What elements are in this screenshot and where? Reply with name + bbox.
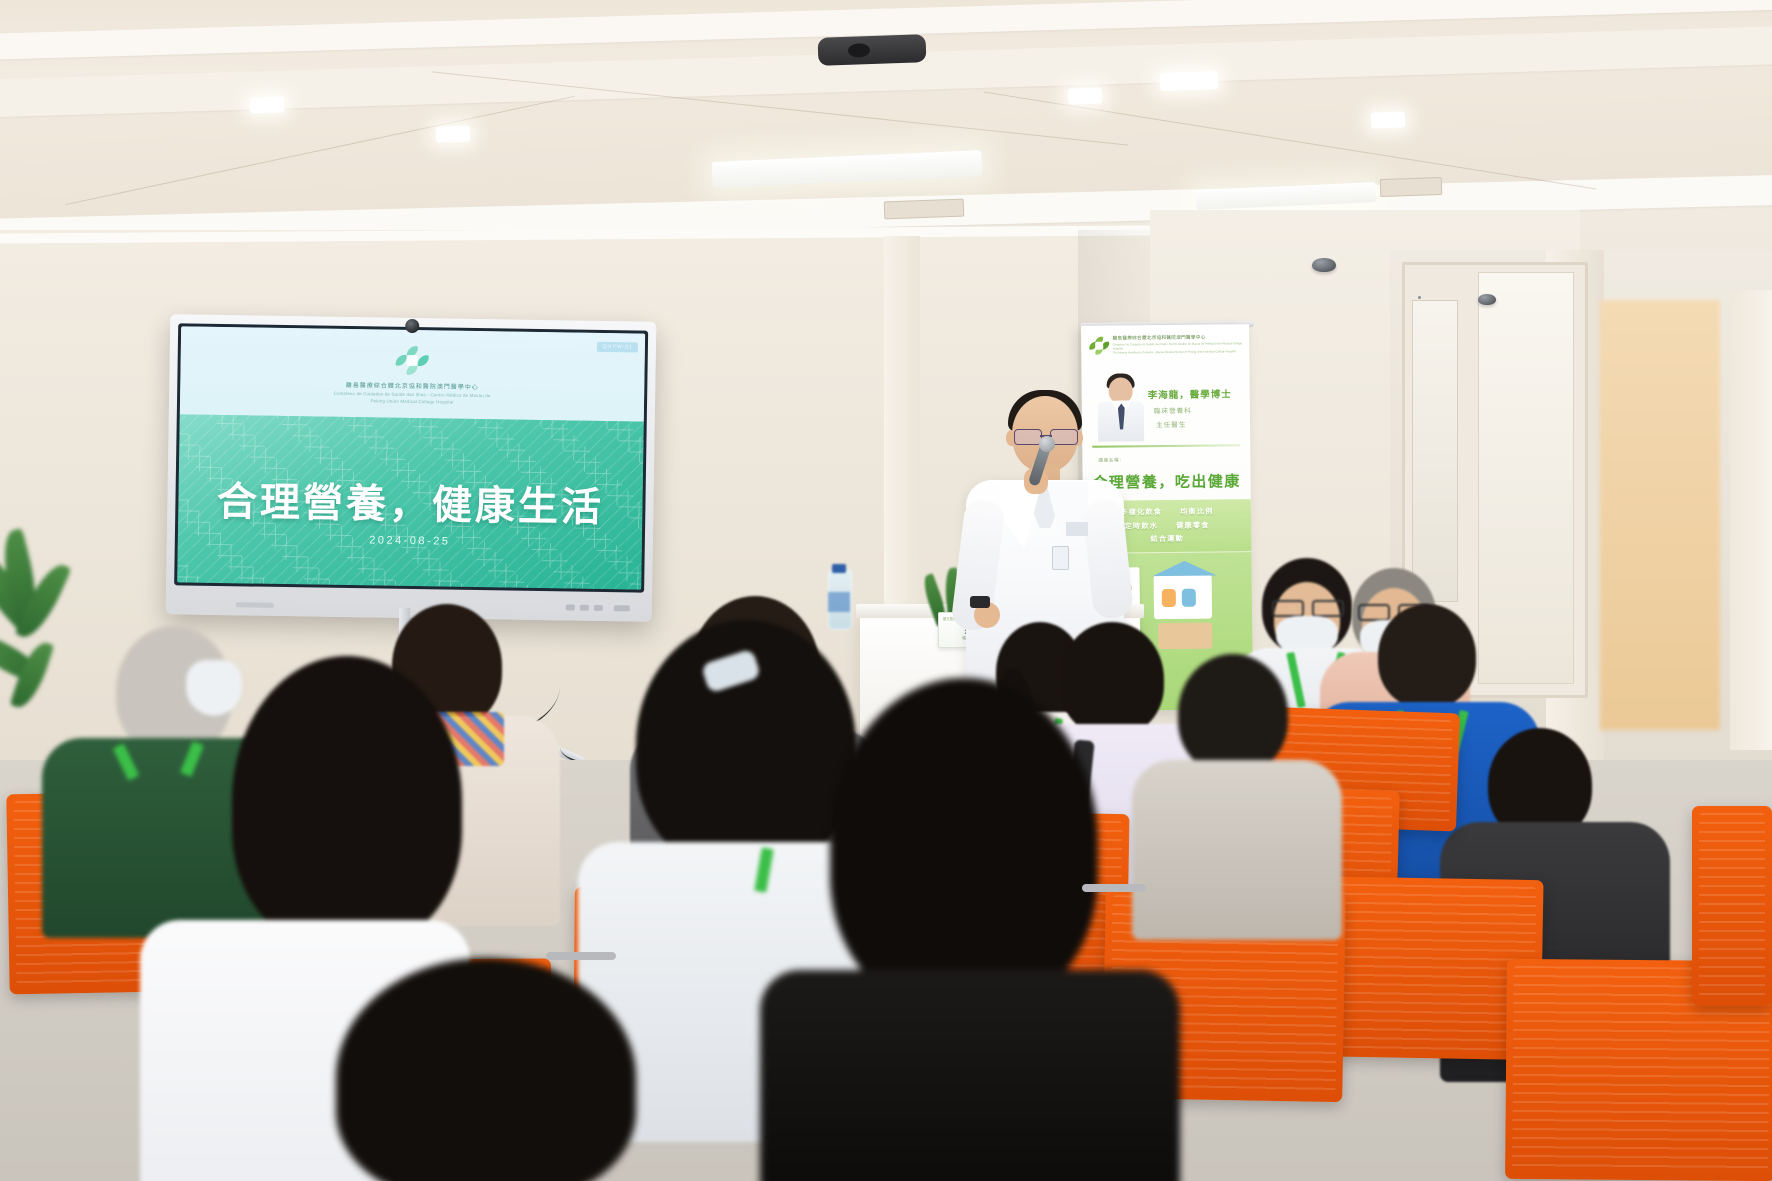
attendee-head bbox=[232, 656, 462, 946]
wall-fitting bbox=[1418, 296, 1421, 299]
ceiling-downlight bbox=[1371, 111, 1406, 128]
attendee-head bbox=[1060, 622, 1164, 736]
four-petal-cross-logo-icon bbox=[1089, 336, 1109, 354]
attendee-body bbox=[1132, 760, 1342, 940]
banner-speaker-dept: 臨床營養科 bbox=[1154, 405, 1192, 415]
attendee-body bbox=[760, 970, 1180, 1181]
ceiling-downlight bbox=[1068, 87, 1103, 104]
chair-armrest bbox=[546, 952, 616, 960]
banner-speaker-name: 李海龍，醫學博士 bbox=[1148, 386, 1232, 401]
ceiling-downlight bbox=[436, 125, 471, 142]
coat-pocket bbox=[1066, 522, 1088, 536]
attendee-head bbox=[1178, 654, 1288, 774]
projector-lens-icon bbox=[848, 43, 870, 58]
attendee-head bbox=[830, 678, 1098, 1008]
banner-org-lines: 離島醫療綜合體北京協和醫院澳門醫學中心 Complexo de Cuidados… bbox=[1113, 334, 1250, 355]
four-petal-cross-logo-icon bbox=[395, 346, 429, 377]
audience-area bbox=[0, 560, 1772, 1181]
banner-org-en: The Islands Healthcare Complex - Macau M… bbox=[1113, 349, 1250, 355]
air-vent bbox=[884, 199, 965, 220]
banner-bullet: 結合運動 bbox=[1150, 532, 1184, 546]
air-vent bbox=[1380, 177, 1443, 197]
conference-room-photo: 離島醫療綜合體北京協和醫院澳門醫學中心 Complexo de Cuidados… bbox=[0, 0, 1772, 1181]
banner-speaker-role: 主任醫生 bbox=[1156, 419, 1186, 429]
dome-security-camera-icon bbox=[1312, 258, 1336, 272]
slide-logo-block: 離島醫療綜合體北京協和醫院澳門醫學中心 Complexo de Cuidados… bbox=[180, 342, 645, 409]
attendee-head bbox=[1378, 604, 1476, 708]
microphone-head-icon bbox=[1039, 436, 1055, 452]
chair-armrest bbox=[1082, 884, 1146, 892]
eyeglasses-icon bbox=[1272, 600, 1342, 613]
presentation-slide: 離島醫療綜合體北京協和醫院澳門醫學中心 Complexo de Cuidados… bbox=[177, 326, 645, 589]
face-mask bbox=[186, 660, 242, 716]
door-glass-panel bbox=[1412, 300, 1458, 602]
ceiling-downlight bbox=[1160, 71, 1219, 91]
dome-security-camera-icon bbox=[1478, 294, 1496, 305]
banner-bullet: 均衡比例 bbox=[1180, 505, 1214, 519]
banner-logo-block: 離島醫療綜合體北京協和醫院澳門醫學中心 Complexo de Cuidados… bbox=[1089, 334, 1249, 355]
ceiling-downlight bbox=[250, 96, 285, 113]
ceiling-projector bbox=[818, 34, 927, 66]
slide-title: 合理營養，健康生活 bbox=[178, 468, 643, 533]
slide-watermark-badge: QHYW-01 bbox=[597, 342, 638, 353]
bench-chair[interactable] bbox=[1692, 806, 1772, 1006]
display-panel: 離島醫療綜合體北京協和醫院澳門醫學中心 Complexo de Cuidados… bbox=[174, 323, 648, 592]
attendee-head bbox=[336, 958, 636, 1181]
banner-bullet: 健康零食 bbox=[1176, 518, 1210, 532]
